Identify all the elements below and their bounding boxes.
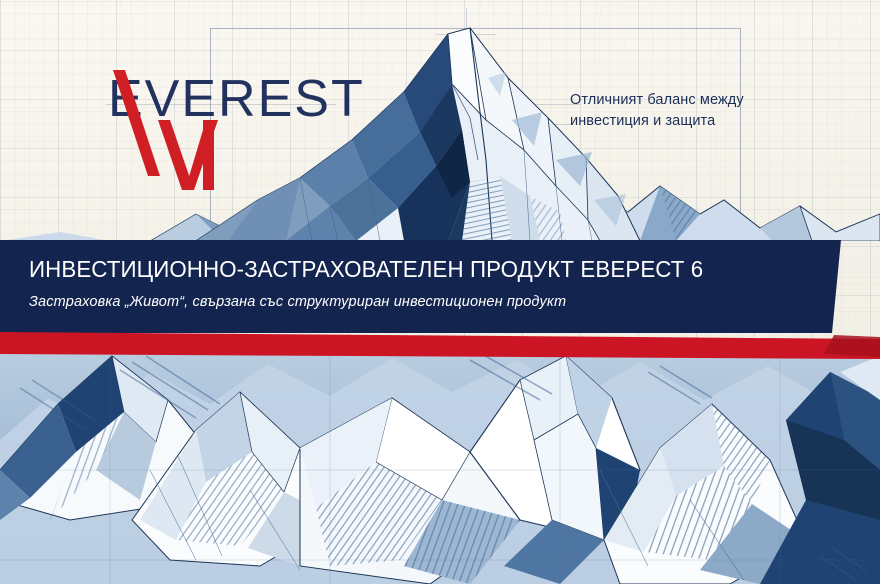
tagline-line-1: Отличният баланс между (570, 90, 820, 111)
tagline-line-2: инвестиция и защита (570, 111, 820, 132)
lower-range-group (0, 352, 880, 584)
logo-numeral-i (203, 120, 214, 190)
everest-logo: EVEREST EVEREST VI (108, 68, 368, 196)
headline-banner (0, 240, 880, 333)
banner-title: ИНВЕСТИЦИОННО-ЗАСТРАХОВАТЕЛЕН ПРОДУКТ ЕВ… (29, 256, 703, 283)
poster-canvas: EVEREST EVEREST VI Отличният баланс межд… (0, 0, 880, 584)
logo-wordmark-text: EVEREST (108, 70, 365, 128)
banner-subtitle: Застраховка „Живот“, свързана със структ… (29, 294, 566, 310)
tagline: Отличният баланс между инвестиция и защи… (570, 90, 820, 132)
